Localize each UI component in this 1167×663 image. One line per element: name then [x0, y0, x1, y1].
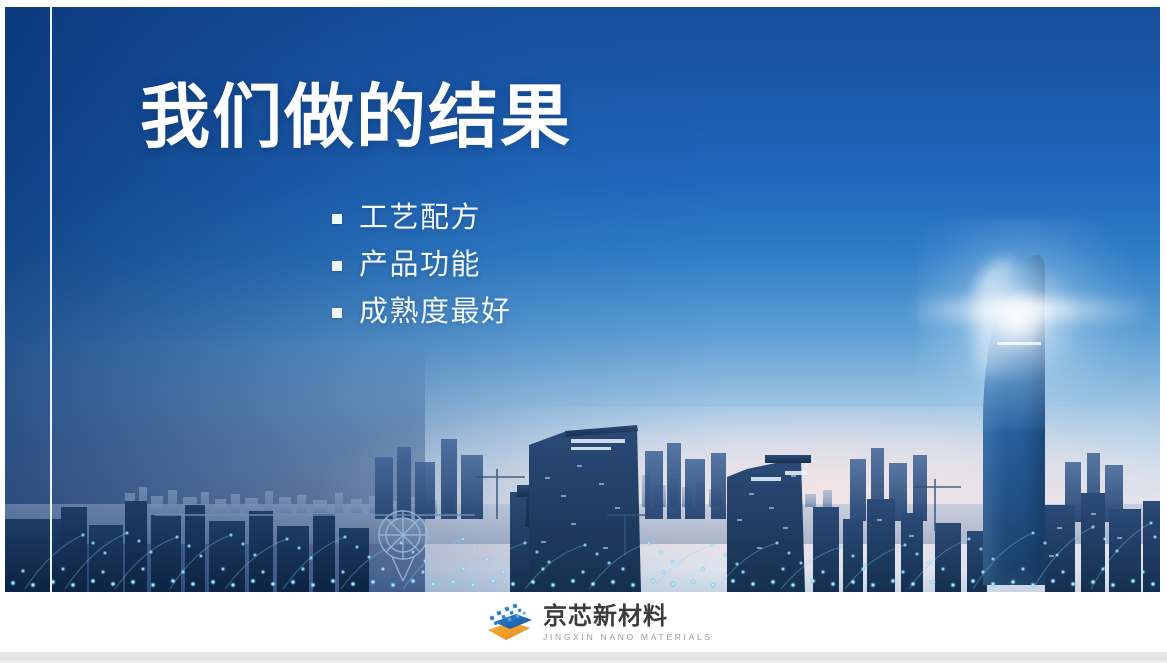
sun-glare-streak — [905, 299, 1155, 321]
square-bullet-icon — [332, 308, 342, 318]
list-item-label: 工艺配方 — [359, 204, 481, 233]
vertical-divider-line — [50, 7, 52, 592]
logo-name-en: JINGXIN NANO MATERIALS — [543, 632, 713, 642]
logo-name-cn: 京芯新材料 — [543, 604, 713, 629]
company-logo: 京芯新材料 JINGXIN NANO MATERIALS — [482, 602, 713, 644]
logo-wordmark: 京芯新材料 JINGXIN NANO MATERIALS — [543, 604, 713, 641]
bottom-gray-strip — [0, 652, 1167, 663]
sun-glare — [917, 219, 1147, 429]
logo-mark-icon — [482, 602, 536, 644]
square-bullet-icon — [332, 214, 342, 224]
list-item-label: 产品功能 — [359, 251, 481, 280]
bullet-list: 工艺配方 产品功能 成熟度最好 — [332, 195, 752, 336]
page-title: 我们做的结果 — [140, 80, 572, 156]
list-item: 成熟度最好 — [332, 289, 752, 336]
slide-canvas: 我们做的结果 工艺配方 产品功能 成熟度最好 — [0, 0, 1167, 663]
list-item: 工艺配方 — [332, 195, 752, 242]
list-item-label: 成熟度最好 — [359, 298, 512, 327]
list-item: 产品功能 — [332, 242, 752, 289]
square-bullet-icon — [332, 261, 342, 271]
